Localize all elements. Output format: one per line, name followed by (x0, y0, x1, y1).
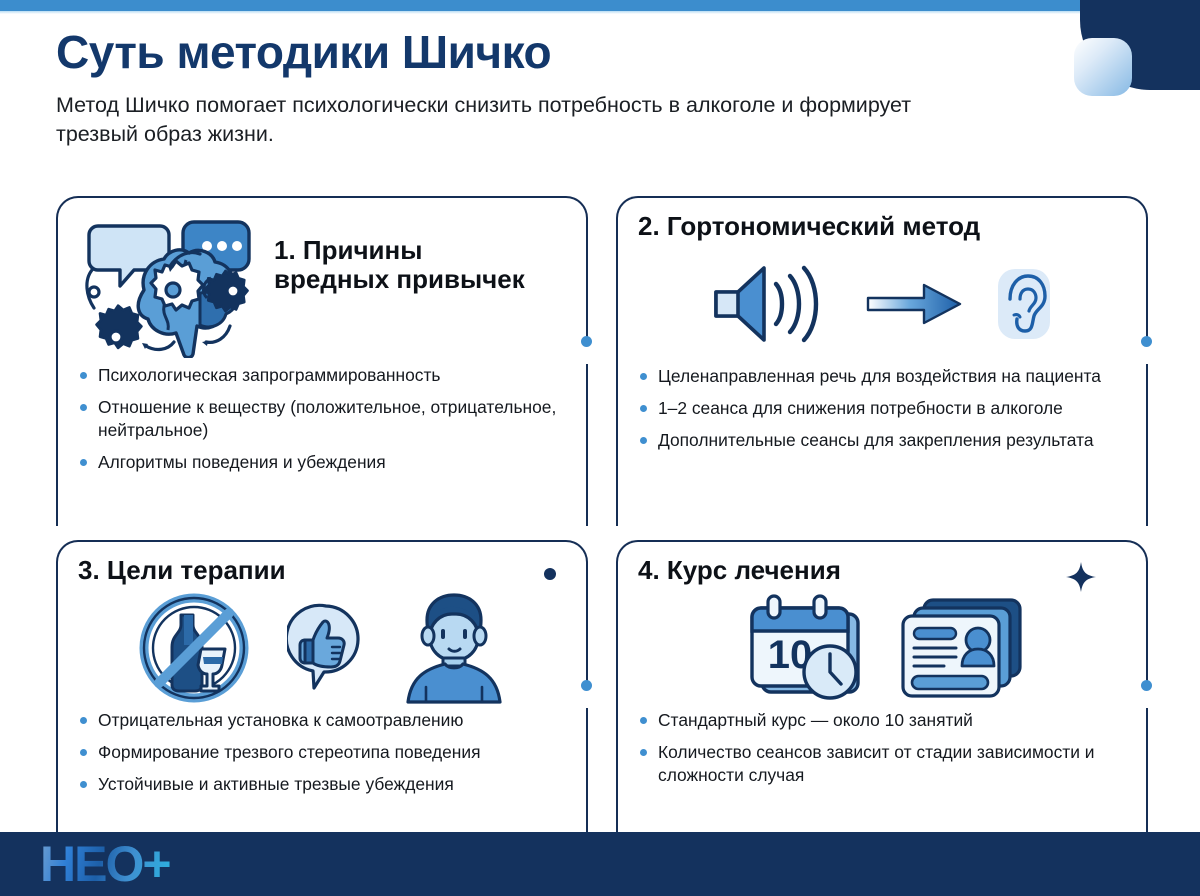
card-frame-right-upper (1146, 578, 1148, 684)
thumbs-up-bubble-icon (287, 600, 365, 701)
card-icon-row (78, 591, 566, 709)
no-alcohol-icon (135, 589, 253, 712)
card-gortonomic-method: 2. Гортономический метод (616, 196, 1148, 526)
list-item: Устойчивые и активные трезвые убеждения (78, 773, 566, 796)
ear-icon (992, 265, 1056, 348)
card-frame-right-lower (586, 364, 588, 526)
card-frame-right-lower (586, 708, 588, 840)
card-frame-left (56, 234, 58, 526)
brand-logo: НЕО+ (40, 838, 170, 890)
corner-light-square-decoration (1074, 38, 1132, 96)
card-frame-right-lower (1146, 708, 1148, 840)
card-frame-left (616, 234, 618, 526)
card-treatment-course: 4. Курс лечения 10 (616, 540, 1148, 840)
card-causes-of-bad-habits: 1. Причины вредных привычек Психологичес… (56, 196, 588, 526)
card-edge-dot (1141, 680, 1152, 691)
page-subtitle: Метод Шичко помогает психологически сниз… (56, 91, 936, 150)
person-icon (399, 592, 509, 709)
list-item: Формирование трезвого стереотипа поведен… (78, 741, 566, 764)
card-bullet-list: Стандартный курс — около 10 занятий Коли… (638, 709, 1126, 787)
list-item: Отношение к веществу (положительное, отр… (78, 396, 566, 442)
id-cards-icon (898, 594, 1024, 707)
card-frame-right-upper (586, 578, 588, 684)
arrow-right-icon (866, 281, 962, 332)
card-frame-left (56, 578, 58, 840)
card-icon-row (638, 247, 1126, 365)
list-item: Отрицательная установка к самоотравлению (78, 709, 566, 732)
card-title: 4. Курс лечения (638, 556, 1126, 585)
brand-logo-text: НЕО+ (40, 839, 170, 889)
sparkle-icon (1066, 562, 1096, 592)
card-edge-dot (581, 680, 592, 691)
list-item: Дополнительные сеансы для закрепления ре… (638, 429, 1126, 452)
brain-gears-icon (78, 218, 260, 363)
top-bar-shine (0, 11, 1160, 14)
card-icon-row: 10 (638, 591, 1126, 709)
card-title: 2. Гортономический метод (638, 212, 1126, 241)
card-bullet-list: Отрицательная установка к самоотравлению… (78, 709, 566, 796)
list-item: Стандартный курс — около 10 занятий (638, 709, 1126, 732)
card-edge-dot (1141, 336, 1152, 347)
list-item: 1–2 сеанса для снижения потребности в ал… (638, 397, 1126, 420)
decoration-navy-dot (544, 568, 556, 580)
calendar-clock-icon: 10 (740, 590, 868, 711)
speaker-icon (708, 256, 836, 357)
card-frame-left (616, 578, 618, 840)
list-item: Психологическая запрограммированность (78, 364, 566, 387)
list-item: Алгоритмы поведения и убеждения (78, 451, 566, 474)
card-bullet-list: Психологическая запрограммированность От… (78, 364, 566, 474)
top-accent-bar (0, 0, 1200, 11)
list-item: Количество сеансов зависит от стадии зав… (638, 741, 1126, 787)
header: Суть методики Шичко Метод Шичко помогает… (56, 28, 1056, 150)
footer-bar: НЕО+ (0, 832, 1200, 896)
page-title: Суть методики Шичко (56, 28, 1056, 77)
card-frame-right-upper (586, 234, 588, 340)
card-frame-right-upper (1146, 234, 1148, 340)
card-title: 3. Цели терапии (78, 556, 566, 585)
list-item: Целенаправленная речь для воздействия на… (638, 365, 1126, 388)
card-edge-dot (581, 336, 592, 347)
card-title: 1. Причины вредных привычек (274, 236, 534, 295)
card-therapy-goals: 3. Цели терапии (56, 540, 588, 840)
card-frame-right-lower (1146, 364, 1148, 526)
card-grid: 1. Причины вредных привычек Психологичес… (56, 196, 1148, 840)
card-bullet-list: Целенаправленная речь для воздействия на… (638, 365, 1126, 452)
